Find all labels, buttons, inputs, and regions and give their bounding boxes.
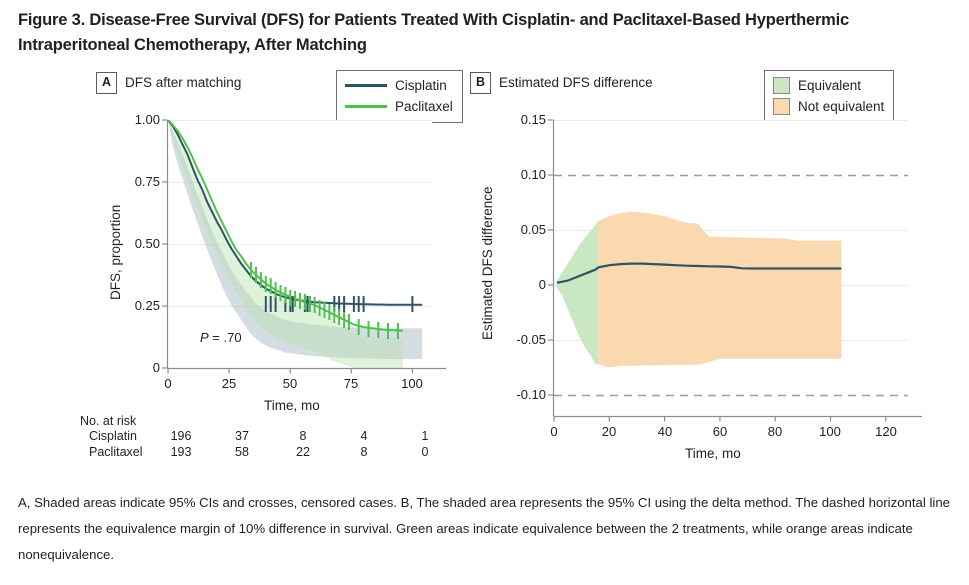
risk-row-label-cisplatin: Cisplatin	[89, 429, 137, 443]
risk-value: 1	[408, 429, 442, 443]
panel-a-x-axis-title: Time, mo	[264, 398, 320, 413]
panel-b-xtick-40: 40	[645, 424, 685, 439]
equivalent-swatch-icon	[773, 77, 790, 94]
figure-note: A, Shaded areas indicate 95% CIs and cro…	[18, 490, 956, 568]
legend-label-equivalent: Equivalent	[798, 78, 861, 93]
panel-a-ytick-0_75: 0.75	[112, 174, 160, 189]
risk-value: 4	[347, 429, 381, 443]
risk-row-label-paclitaxel: Paclitaxel	[89, 445, 143, 459]
panel-a-xtick-0: 0	[148, 376, 188, 391]
panel-b-header: B Estimated DFS difference	[470, 72, 653, 94]
panel-a-pvalue: P = .70	[200, 330, 242, 345]
panel-a-axes	[154, 114, 446, 382]
risk-value: 196	[164, 429, 198, 443]
risk-value: 8	[286, 429, 320, 443]
panel-b-ytick-0: 0	[496, 277, 546, 292]
panel-a-letter: A	[96, 72, 117, 94]
legend-item-equivalent: Equivalent	[773, 75, 884, 96]
risk-value: 8	[347, 445, 381, 459]
panel-b-axes	[540, 114, 922, 430]
panel-b-xtick-0: 0	[534, 424, 574, 439]
panel-a-xtick-25: 25	[209, 376, 249, 391]
panel-a: A DFS after matching Cisplatin Paclitaxe…	[96, 68, 466, 478]
panel-a-y-axis-title: DFS, proportion	[108, 205, 123, 300]
panel-b-xtick-120: 120	[866, 424, 906, 439]
panel-b-caption: Estimated DFS difference	[499, 75, 653, 90]
panel-b-ytick-0_15: 0.15	[496, 112, 546, 127]
risk-table-title: No. at risk	[80, 414, 136, 428]
panel-a-xtick-50: 50	[270, 376, 310, 391]
legend-label-paclitaxel: Paclitaxel	[395, 99, 453, 114]
figure-title: Figure 3. Disease-Free Survival (DFS) fo…	[18, 8, 954, 58]
panel-b-xtick-60: 60	[700, 424, 740, 439]
pvalue-symbol: P	[200, 330, 209, 345]
panel-b-xtick-100: 100	[810, 424, 850, 439]
cisplatin-line-icon	[345, 84, 387, 87]
panel-b-letter: B	[470, 72, 491, 94]
pvalue-value: = .70	[209, 330, 242, 345]
not-equivalent-swatch-icon	[773, 98, 790, 115]
panel-a-ytick-0: 0	[112, 360, 160, 375]
legend-label-cisplatin: Cisplatin	[395, 78, 447, 93]
panel-b-x-axis-title: Time, mo	[685, 446, 741, 461]
panel-b-ytick-0_10: 0.10	[496, 167, 546, 182]
panel-b-ytick-0_05: 0.05	[496, 222, 546, 237]
panel-a-header: A DFS after matching	[96, 72, 241, 94]
panel-b-y-axis-title: Estimated DFS difference	[480, 186, 495, 340]
risk-table: No. at risk Cisplatin 196 37 8 4 1 Pacli…	[80, 414, 136, 461]
panel-a-ytick-0_25: 0.25	[112, 298, 160, 313]
panel-b-xtick-20: 20	[589, 424, 629, 439]
panel-b-ytick-neg0_10: -0.10	[490, 387, 546, 402]
risk-value: 0	[408, 445, 442, 459]
panel-a-ytick-1: 1.00	[112, 112, 160, 127]
risk-row-cisplatin: Cisplatin 196 37 8 4 1	[80, 429, 136, 445]
panel-a-xtick-100: 100	[392, 376, 432, 391]
panel-a-ytick-0_5: 0.50	[112, 236, 160, 251]
legend-item-cisplatin: Cisplatin	[345, 75, 453, 96]
paclitaxel-line-icon	[345, 105, 387, 108]
legend-label-not-equivalent: Not equivalent	[798, 99, 884, 114]
panel-b: B Estimated DFS difference Equivalent No…	[470, 68, 950, 478]
panel-a-caption: DFS after matching	[125, 75, 241, 90]
risk-row-paclitaxel: Paclitaxel 193 58 22 8 0	[80, 445, 136, 461]
risk-value: 193	[164, 445, 198, 459]
risk-value: 22	[286, 445, 320, 459]
risk-value: 58	[225, 445, 259, 459]
panel-b-xtick-80: 80	[755, 424, 795, 439]
risk-value: 37	[225, 429, 259, 443]
panel-a-xtick-75: 75	[331, 376, 371, 391]
panel-b-ytick-neg0_05: -0.05	[490, 332, 546, 347]
